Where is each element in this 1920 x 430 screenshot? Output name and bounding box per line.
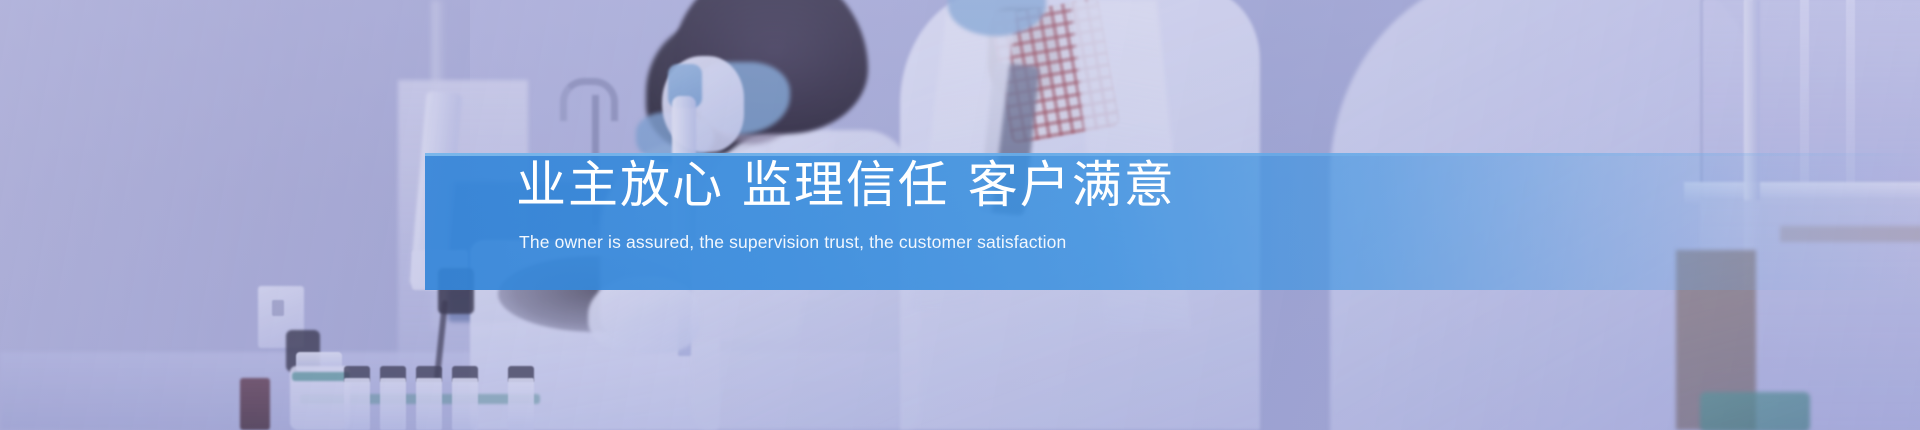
hero-banner: 业主放心 监理信任 客户满意 The owner is assured, the… (0, 0, 1920, 430)
banner-subline: The owner is assured, the supervision tr… (519, 231, 1066, 254)
banner-headline: 业主放心 监理信任 客户满意 (516, 155, 1176, 216)
banner-text-block: 业主放心 监理信任 客户满意 The owner is assured, the… (516, 153, 1716, 290)
